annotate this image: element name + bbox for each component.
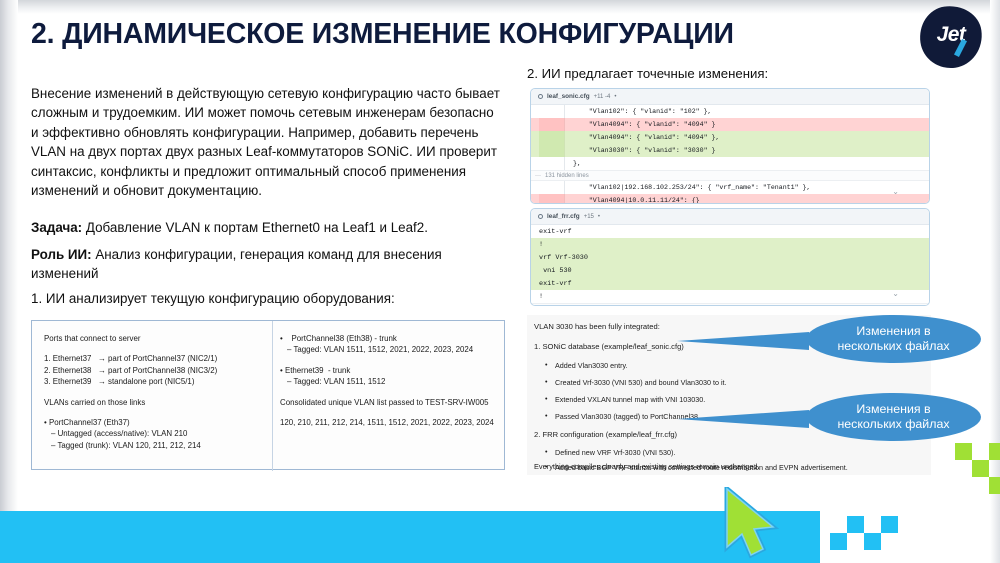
hidden-lines-separator[interactable]: —131 hidden lines: [531, 170, 929, 181]
decor-square: [847, 516, 864, 533]
decor-square: [989, 443, 1000, 460]
summary-bullet: Added Vlan3030 entry.: [555, 361, 628, 370]
diff-body: "Vlan102": { "vlanid": "102" }, "Vlan409…: [531, 105, 929, 204]
decor-square: [989, 477, 1000, 494]
vlan-entry-line: – Untagged (access/native): VLAN 210: [44, 428, 272, 439]
diff-body: exit-vrf ! vrf Vrf-3030 vni 530 exit-vrf…: [531, 225, 929, 306]
code-line: !: [531, 238, 929, 251]
diff-header: leaf_sonic.cfg +11 -4 •: [531, 89, 929, 105]
dash-icon: —: [535, 306, 541, 307]
summary-section-1: 1. SONiC database (example/leaf_sonic.cf…: [534, 342, 684, 351]
code-line: "Vlan4094": { "vlanid": "4094" }: [531, 118, 929, 131]
spacer: [44, 388, 272, 397]
diff-card-leaf-sonic[interactable]: leaf_sonic.cfg +11 -4 • "Vlan102": { "vl…: [530, 88, 930, 204]
summary-section-2: 2. FRR configuration (example/leaf_frr.c…: [534, 430, 677, 439]
code-line-text: "Vlan102": { "vlanid": "102" },: [573, 108, 712, 115]
task-line: Задача: Добавление VLAN к портам Etherne…: [31, 218, 501, 237]
callout-line-2: нескольких файлах: [837, 339, 949, 355]
summary-title: VLAN 3030 has been fully integrated:: [534, 322, 660, 331]
intro-paragraph: Внесение изменений в действующую сетевую…: [31, 84, 501, 200]
chevron-down-icon[interactable]: ⌄: [892, 187, 899, 196]
decor-square: [881, 516, 898, 533]
ports-heading: Ports that connect to server: [44, 333, 272, 344]
summary-bullet: Defined new VRF Vrf-3030 (VNI 530).: [555, 448, 675, 457]
spacer: [44, 408, 272, 417]
vlan-entry-title: • PortChannel37 (Eth37): [44, 417, 272, 428]
role-line: Роль ИИ: Анализ конфигурации, генерация …: [31, 246, 501, 283]
line-gutter: [539, 181, 565, 194]
code-line: vni 530: [531, 264, 929, 277]
code-line: vrf Vrf-3030: [531, 251, 929, 264]
code-line: "Vlan4094|10.0.11.11/24": {}: [531, 194, 929, 204]
diff-stat: +11 -4: [594, 94, 611, 100]
top-edge-gradient: [0, 0, 1000, 14]
code-line-text: "Vlan4094|10.0.11.11/24": {}: [573, 197, 700, 204]
left-edge-gradient: [0, 0, 18, 563]
line-gutter: [539, 105, 565, 118]
callout-line-2: нескольких файлах: [837, 417, 949, 433]
bottom-accent-bar: [0, 511, 820, 563]
decor-square: [830, 533, 847, 550]
config-right-column: • PortChannel38 (Eth38) - trunk – Tagged…: [280, 333, 498, 428]
diff-modified-marker: •: [598, 214, 600, 220]
vlan-entry-line: – Tagged: VLAN 1511, 1512: [280, 376, 498, 387]
callout-tail: [677, 410, 809, 428]
consolidated-vlan-list: 120, 210, 211, 212, 214, 1511, 1512, 202…: [280, 417, 498, 428]
slide-root: 2. ДИНАМИЧЕСКОЕ ИЗМЕНЕНИЕ КОНФИГУРАЦИИ J…: [0, 0, 1000, 563]
vlans-heading: VLANs carried on those links: [44, 397, 272, 408]
summary-bullet: Created Vrf-3030 (VNI 530) and bound Vla…: [555, 378, 727, 387]
circle-icon: [538, 214, 543, 219]
vlan-entry-title: • PortChannel38 (Eth38) - trunk: [280, 333, 498, 344]
code-line-text: "Vlan102|192.168.102.253/24": { "vrf_nam…: [573, 184, 810, 191]
hidden-lines-label: 256 hidden lines: [545, 306, 589, 307]
code-line: "Vlan4094": { "vlanid": "4094" },: [531, 131, 929, 144]
callout-line-1: Изменения в: [856, 402, 930, 418]
line-gutter: [539, 157, 565, 170]
page-title: 2. ДИНАМИЧЕСКОЕ ИЗМЕНЕНИЕ КОНФИГУРАЦИИ: [31, 18, 734, 51]
consolidated-label: Consolidated unique VLAN list passed to …: [280, 397, 498, 408]
line-gutter: [539, 144, 565, 157]
code-line: !: [531, 290, 929, 303]
decor-square: [972, 460, 989, 477]
spacer: [280, 408, 498, 417]
chevron-down-icon[interactable]: ⌄: [892, 289, 899, 298]
port-line: 2. Ethernet38 → part of PortChannel38 (N…: [44, 365, 272, 376]
summary-footer: Everything compiles cleanly and existing…: [534, 462, 760, 471]
task-label: Задача:: [31, 220, 82, 235]
diff-filename: leaf_sonic.cfg: [547, 93, 590, 100]
diff-modified-marker: •: [614, 94, 616, 100]
code-line: "Vlan102|192.168.102.253/24": { "vrf_nam…: [531, 181, 929, 194]
code-line: "Vlan102": { "vlanid": "102" },: [531, 105, 929, 118]
vlan-entry-line: – Tagged: VLAN 1511, 1512, 2021, 2022, 2…: [280, 344, 498, 355]
role-text: Анализ конфигурации, генерация команд дл…: [31, 247, 442, 281]
jet-logo: Jet: [920, 6, 982, 68]
decor-square: [864, 533, 881, 550]
diff-header: leaf_frr.cfg +15 •: [531, 209, 929, 225]
cursor-icon: [723, 487, 785, 563]
callout-tail: [677, 332, 809, 350]
vlan-entry-title: • Ethernet39 - trunk: [280, 365, 498, 376]
config-column-divider: [272, 321, 273, 471]
code-line-text: },: [573, 160, 581, 167]
dash-icon: —: [535, 173, 541, 179]
step2-heading: 2. ИИ предлагает точечные изменения:: [527, 66, 768, 81]
line-gutter: [539, 131, 565, 144]
line-gutter: [539, 118, 565, 131]
code-line: exit-vrf: [531, 277, 929, 290]
summary-bullet: Extended VXLAN tunnel map with VNI 10303…: [555, 395, 705, 404]
code-line: "Vlan3030": { "vlanid": "3030" }: [531, 144, 929, 157]
task-text: Добавление VLAN к портам Ethernet0 на Le…: [82, 220, 428, 235]
diff-card-leaf-frr[interactable]: leaf_frr.cfg +15 • exit-vrf ! vrf Vrf-30…: [530, 208, 930, 306]
code-line: },: [531, 157, 929, 170]
code-line-text: "Vlan3030": { "vlanid": "3030" }: [573, 147, 715, 154]
decor-square: [955, 443, 972, 460]
config-left-column: Ports that connect to server 1. Ethernet…: [44, 333, 272, 451]
diff-filename: leaf_frr.cfg: [547, 213, 580, 220]
port-line: 3. Ethernet39 → standalone port (NIC5/1): [44, 376, 272, 387]
vlan-entry-line: – Tagged (trunk): VLAN 120, 211, 212, 21…: [44, 440, 272, 451]
line-gutter: [539, 194, 565, 204]
spacer: [280, 388, 498, 397]
code-line-text: "Vlan4094": { "vlanid": "4094" }: [573, 121, 715, 128]
step1-heading: 1. ИИ анализирует текущую конфигурацию о…: [31, 289, 501, 308]
callout-bubble-2: Изменения в нескольких файлах: [806, 393, 981, 441]
callout-line-1: Изменения в: [856, 324, 930, 340]
current-config-box: Ports that connect to server 1. Ethernet…: [31, 320, 505, 470]
diff-stat: +15: [584, 214, 594, 220]
code-line-text: "Vlan4094": { "vlanid": "4094" },: [573, 134, 719, 141]
hidden-lines-label: 131 hidden lines: [545, 173, 589, 179]
circle-icon: [538, 94, 543, 99]
port-line: 1. Ethernet37 → part of PortChannel37 (N…: [44, 353, 272, 364]
role-label: Роль ИИ:: [31, 247, 92, 262]
logo-text: Jet: [920, 23, 982, 47]
code-line: exit-vrf: [531, 225, 929, 238]
hidden-lines-separator[interactable]: —256 hidden lines: [531, 303, 929, 306]
callout-bubble-1: Изменения в нескольких файлах: [806, 315, 981, 363]
spacer: [280, 356, 498, 365]
